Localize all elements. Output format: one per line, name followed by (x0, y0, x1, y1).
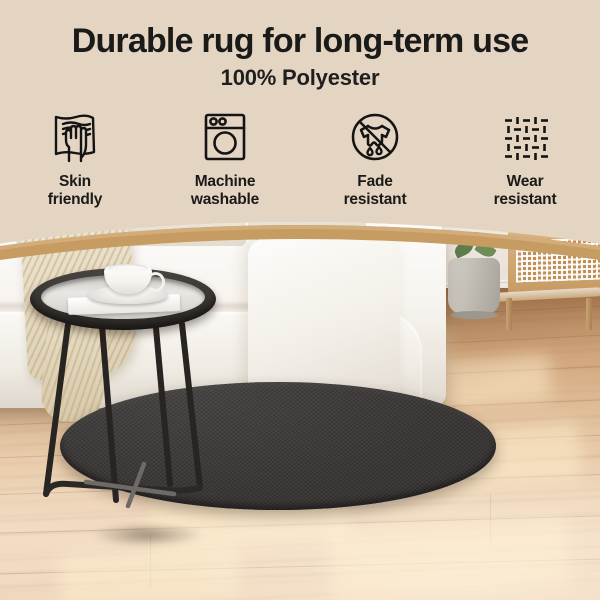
side-table (24, 268, 224, 520)
table-legs (24, 316, 224, 516)
feature-label-line2: washable (191, 191, 259, 209)
woven-weave-icon (496, 108, 554, 166)
feature-skin-friendly: Skin friendly (0, 108, 150, 218)
hand-on-fabric-icon (46, 108, 104, 166)
page-subtitle: 100% Polyester (0, 64, 600, 92)
feature-label-line2: resistant (344, 191, 407, 209)
feature-label-line1: Machine (195, 173, 256, 190)
product-infographic: Durable rug for long-term use 100% Polye… (0, 0, 600, 600)
bench-leg-left (506, 298, 512, 330)
table-rim (30, 268, 216, 330)
no-fade-shirt-icon (346, 108, 404, 166)
feature-label: Fade resistant (344, 173, 407, 209)
feature-label: Machine washable (191, 173, 259, 209)
table-shadow (68, 518, 228, 552)
header: Durable rug for long-term use 100% Polye… (0, 0, 600, 222)
feature-label-line1: Skin (59, 173, 91, 190)
washing-machine-icon (196, 108, 254, 166)
bench-leg-right (586, 298, 592, 330)
feature-machine-washable: Machine washable (150, 108, 300, 218)
feature-label-line2: friendly (48, 191, 102, 209)
feature-label-line1: Fade (357, 173, 392, 190)
feature-label-line1: Wear (507, 173, 544, 190)
feature-fade-resistant: Fade resistant (300, 108, 450, 218)
feature-label: Skin friendly (48, 173, 102, 209)
feature-label-line2: resistant (494, 191, 557, 209)
feature-list: Skin friendly (0, 108, 600, 218)
feature-wear-resistant: Wear resistant (450, 108, 600, 218)
feature-label: Wear resistant (494, 173, 557, 209)
page-title: Durable rug for long-term use (0, 21, 600, 61)
concrete-planter (448, 258, 500, 314)
cane-panel (516, 237, 600, 282)
lifestyle-photo (0, 222, 600, 600)
